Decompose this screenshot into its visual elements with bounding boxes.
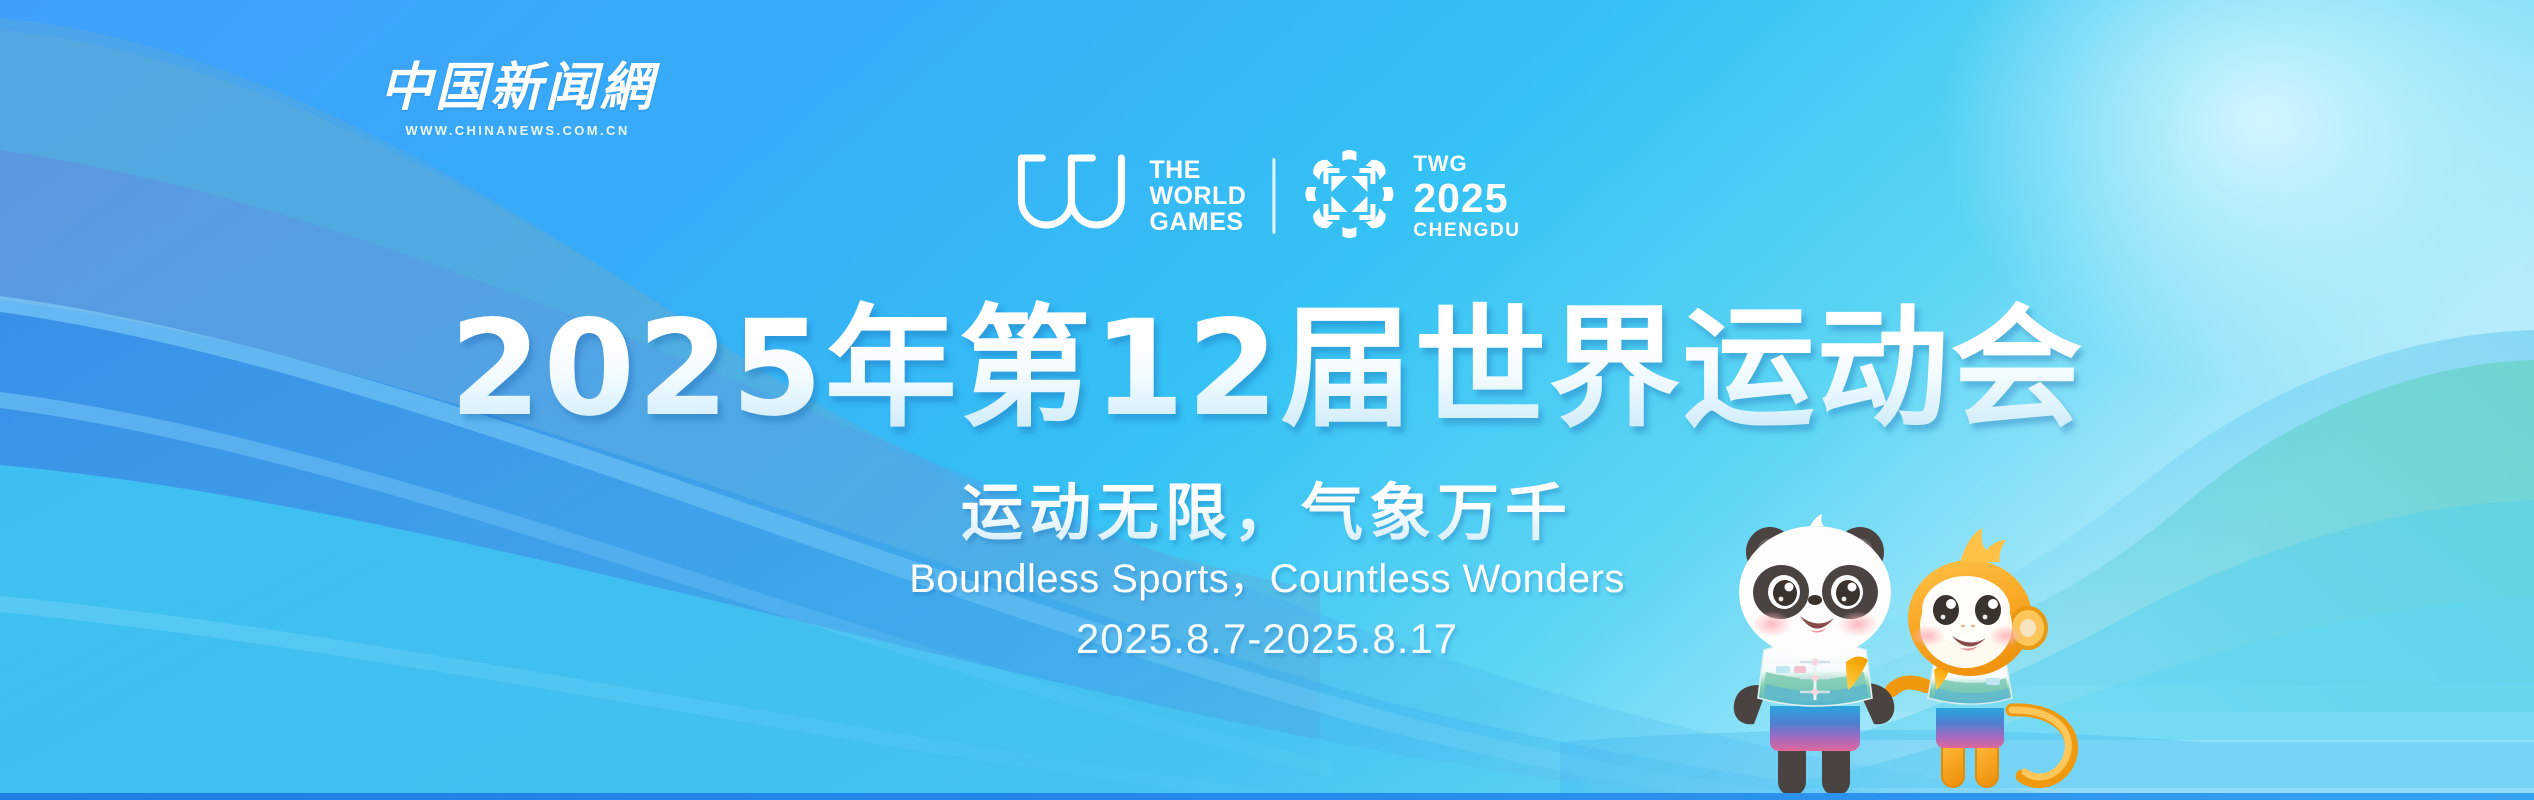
slogan-chinese: 运动无限，气象万千 [961, 462, 1573, 552]
chengdu-line3: CHENGDU [1413, 221, 1520, 240]
chinanews-logo[interactable]: 中国新闻網 WWW.CHINANEWS.COM.CN [380, 62, 655, 138]
chinanews-logo-chars: 中国新闻網 [380, 62, 655, 114]
monkey-mascot-chenchen [1892, 528, 2072, 787]
panda-mascot-shubao [1734, 514, 1895, 796]
world-games-w-icon [1013, 152, 1131, 241]
page-title: 2025年第12届世界运动会 [449, 262, 2084, 453]
world-games-logo[interactable]: THE WORLD GAMES [1013, 152, 1246, 241]
chengdu-2025-wordmark: TWG 2025 CHENGDU [1413, 153, 1520, 240]
world-games-line1: THE [1149, 157, 1246, 183]
event-dates: 2025.8.7-2025.8.17 [1076, 615, 1458, 663]
slogan-english: Boundless Sports，Countless Wonders [909, 546, 1624, 604]
chengdu-line2: 2025 [1413, 178, 1520, 219]
event-logo-lockup: THE WORLD GAMES [1013, 148, 1520, 244]
chinanews-logo-url: WWW.CHINANEWS.COM.CN [380, 123, 655, 138]
lockup-divider [1272, 158, 1275, 234]
world-games-line2: WORLD [1149, 183, 1246, 209]
chengdu-line1: TWG [1413, 153, 1520, 175]
chengdu-2025-logo[interactable]: TWG 2025 CHENGDU [1301, 146, 1520, 247]
world-games-line3: GAMES [1149, 209, 1246, 235]
chengdu-2025-emblem-icon [1301, 146, 1397, 247]
mascots-illustration [1660, 500, 2120, 800]
world-games-2025-banner: 中国新闻網 WWW.CHINANEWS.COM.CN [0, 0, 2534, 800]
bottom-accent-rule [0, 793, 2534, 800]
world-games-wordmark: THE WORLD GAMES [1149, 157, 1246, 235]
